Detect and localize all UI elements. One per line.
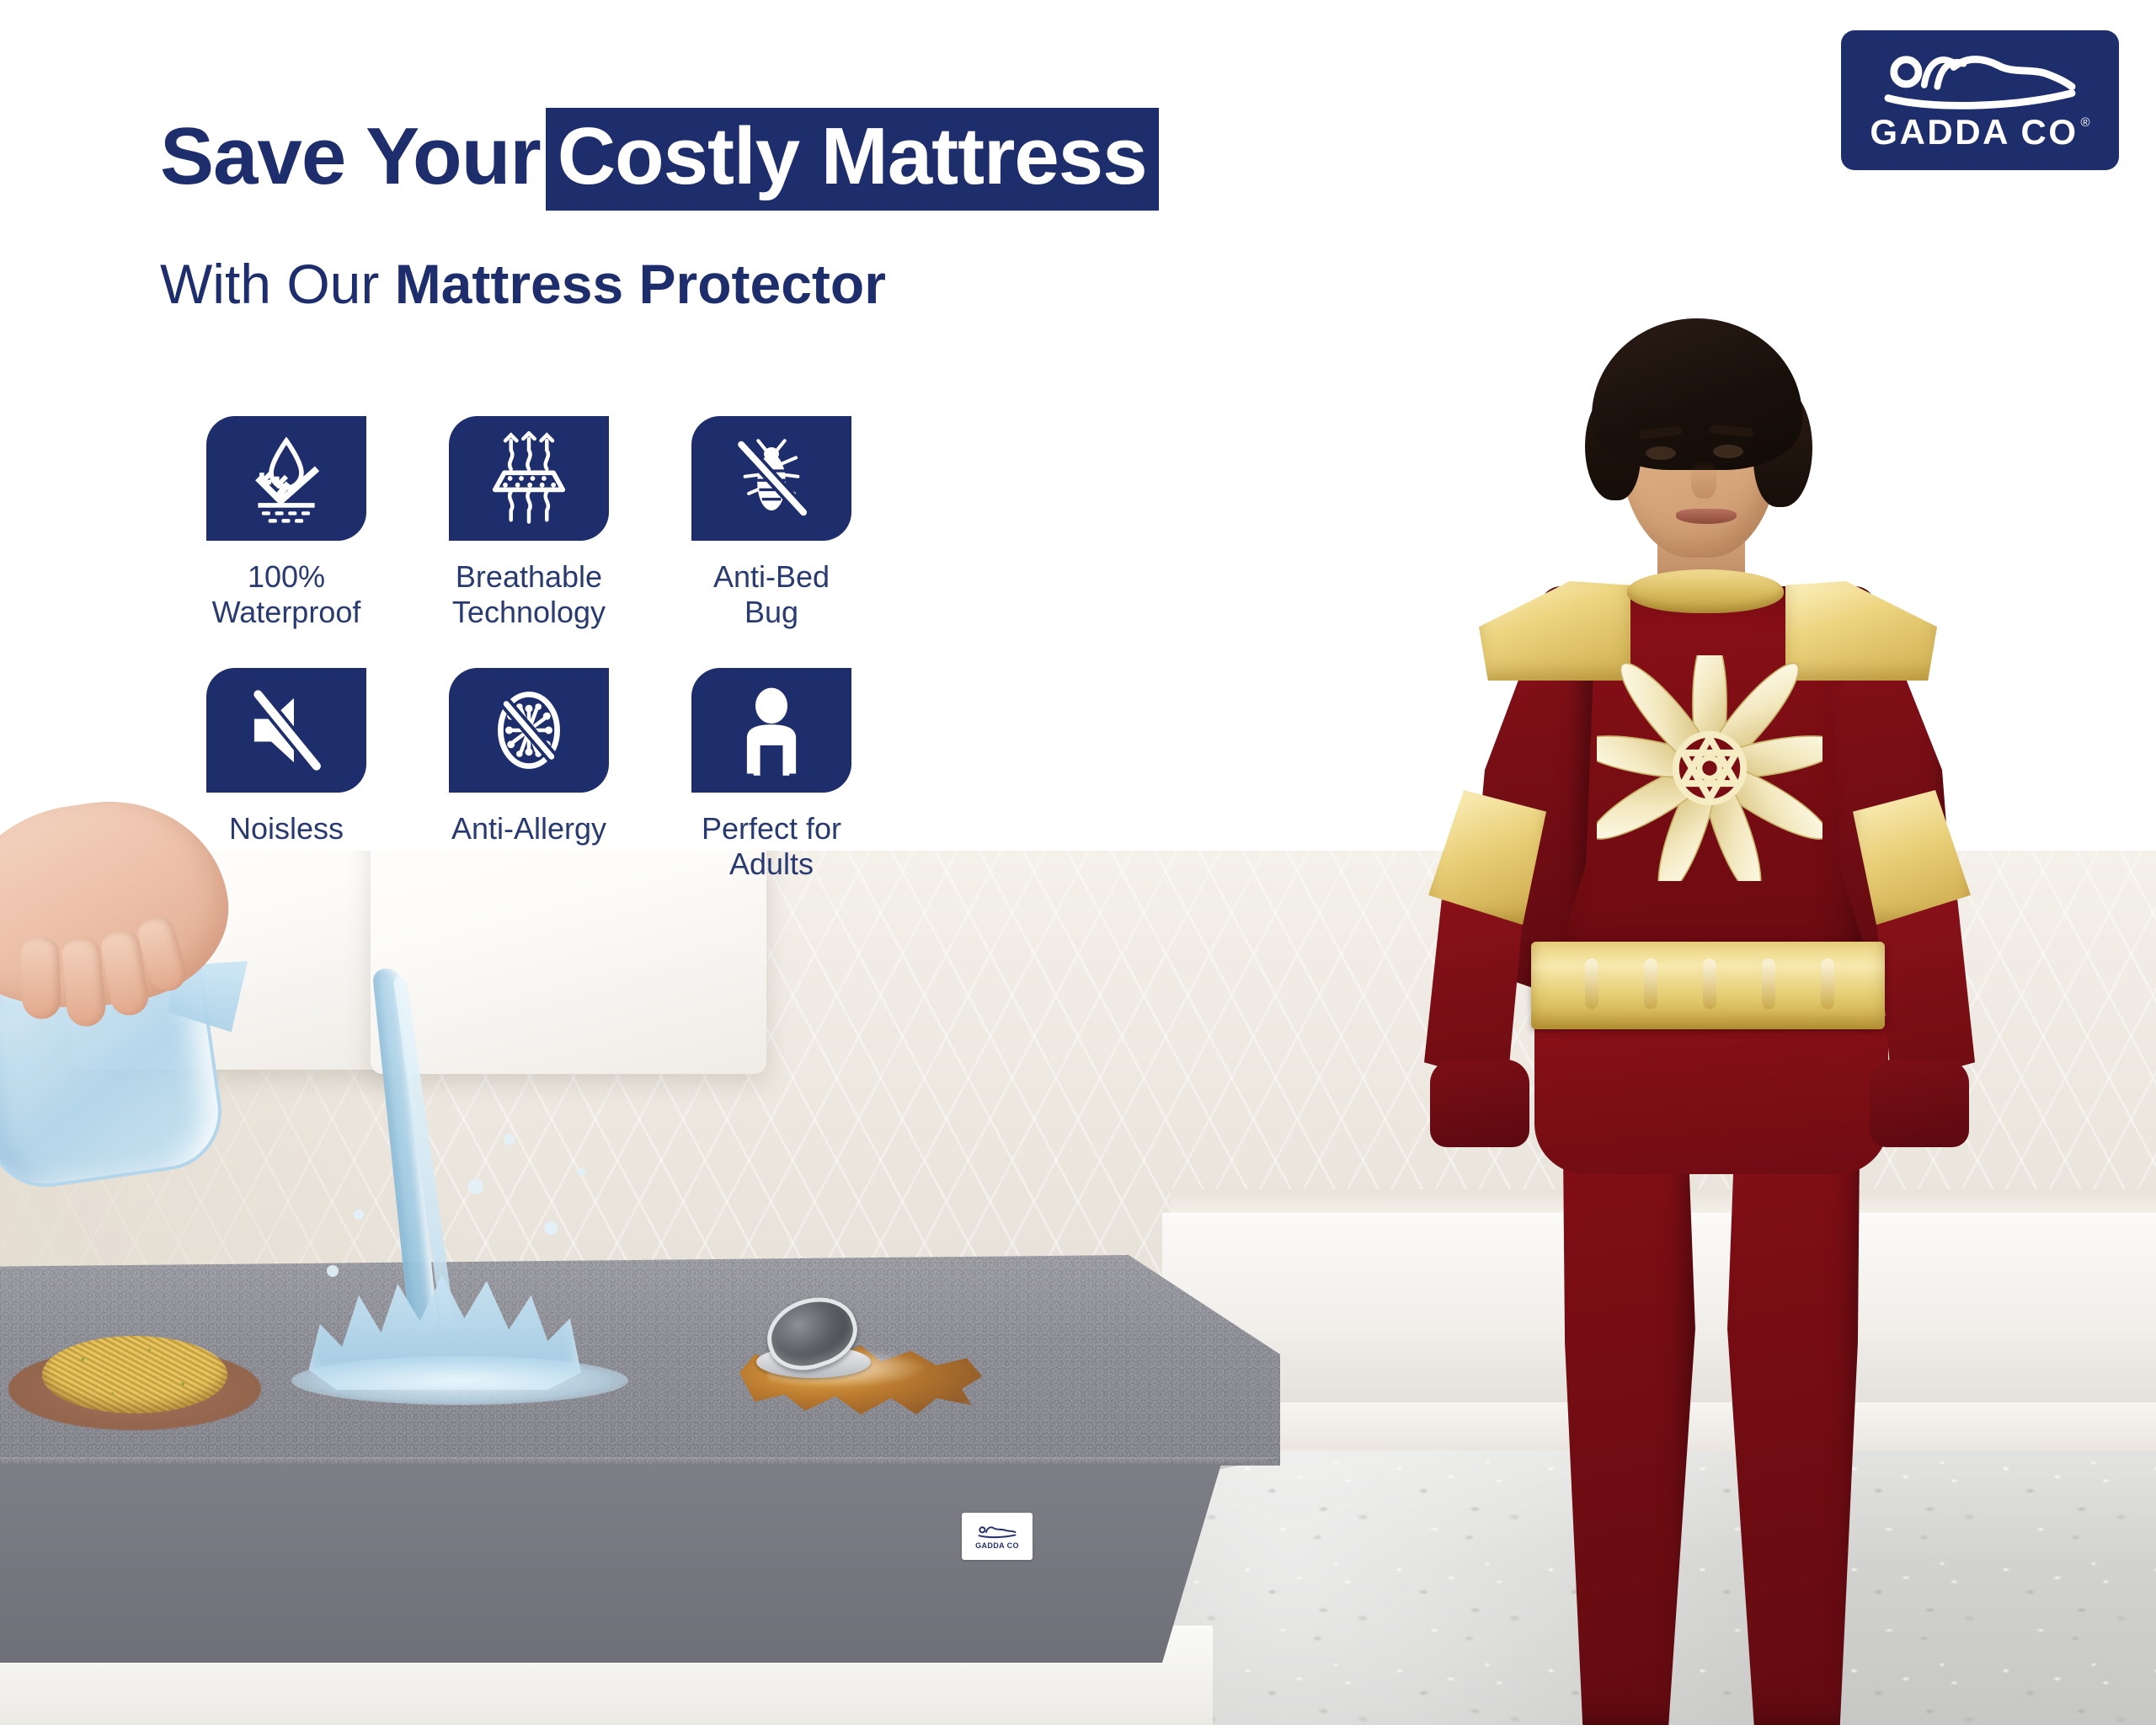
feature-badge — [206, 416, 366, 541]
belt-stud — [1762, 959, 1775, 1009]
vegetable-bits — [42, 1336, 227, 1413]
belt-stud — [1821, 959, 1834, 1009]
golden-lotus-flower-with-star-icon — [1597, 655, 1822, 881]
feature-anti-bed-bug[interactable]: Anti-Bed Bug — [650, 416, 893, 631]
gold-collar — [1627, 569, 1784, 613]
feature-label: Breathable Technology — [452, 559, 606, 631]
water-drop-repel-icon — [237, 431, 336, 526]
person-sleeping-on-mattress-icon — [1881, 51, 2079, 113]
feature-badge — [206, 668, 366, 793]
registered-trademark-icon: ® — [2081, 116, 2090, 129]
eye-right — [1713, 445, 1743, 458]
bed-bug-crossed-out-icon — [722, 431, 821, 526]
water-droplet — [327, 1265, 339, 1277]
water-puddle — [291, 1356, 628, 1405]
subheadline-bold: Mattress Protector — [395, 253, 886, 315]
feature-waterproof[interactable]: 100% Waterproof — [165, 416, 408, 631]
eye-left — [1646, 446, 1676, 460]
feature-label: 100% Waterproof — [212, 559, 361, 631]
feature-anti-allergy[interactable]: Anti-Allergy — [408, 668, 650, 883]
protector-side-panel — [0, 1464, 1221, 1666]
mattress-tag-label: GADDA CO — [975, 1541, 1019, 1550]
feature-row-2: Noisless — [165, 668, 906, 883]
nose — [1691, 460, 1716, 499]
water-droplet — [354, 1210, 364, 1220]
feature-list: 100% Waterproof — [165, 416, 906, 883]
water-droplet — [504, 1134, 515, 1145]
feature-row-1: 100% Waterproof — [165, 416, 906, 631]
advertisement-banner: GADDA CO — [0, 0, 2156, 1725]
feature-label: Perfect for Adults — [702, 811, 841, 883]
feature-badge — [449, 668, 609, 793]
feature-badge — [449, 416, 609, 541]
belt-stud — [1703, 959, 1716, 1009]
feature-noisless[interactable]: Noisless — [165, 668, 408, 883]
water-droplet — [468, 1179, 483, 1194]
water-droplet — [544, 1221, 558, 1235]
breathable-airflow-icon — [479, 431, 579, 526]
finger — [20, 937, 61, 1020]
hair — [1592, 318, 1802, 470]
hips — [1534, 1014, 1888, 1174]
glove-left — [1430, 1060, 1529, 1147]
mouth — [1676, 509, 1737, 524]
glove-right — [1870, 1060, 1969, 1147]
brand-logo[interactable]: GADDA CO ® — [1841, 30, 2119, 170]
allergen-crossed-out-icon — [479, 683, 579, 777]
feature-badge — [691, 416, 851, 541]
page-subtitle: With Our Mattress Protector — [160, 253, 1524, 317]
headline-plain: Save Your — [160, 111, 541, 201]
headline-highlight: Costly Mattress — [546, 108, 1159, 211]
tipped-coffee-cup-stain — [718, 1280, 987, 1432]
feature-badge — [691, 668, 851, 793]
belt-stud — [1644, 959, 1657, 1009]
water-splash — [291, 969, 662, 1440]
noodles-and-sauce-spill — [8, 1336, 261, 1435]
feature-label: Anti-Allergy — [451, 811, 606, 846]
finger — [61, 937, 107, 1028]
person-sleeping-on-mattress-icon — [978, 1524, 1017, 1541]
belt-stud — [1585, 959, 1598, 1009]
feature-label: Anti-Bed Bug — [713, 559, 830, 631]
superhero-mascot — [1314, 318, 2089, 1725]
page-title: Save YourCostly Mattress — [160, 108, 1524, 211]
feature-perfect-for-adults[interactable]: Perfect for Adults — [650, 668, 893, 883]
feature-label: Noisless — [229, 811, 344, 846]
water-droplet — [578, 1167, 586, 1176]
adult-person-icon — [722, 683, 821, 777]
mattress-brand-tag: GADDA CO — [962, 1513, 1033, 1560]
subheadline-light: With Our — [160, 253, 379, 315]
feature-breathable[interactable]: Breathable Technology — [408, 416, 650, 631]
logo-wordmark-row: GADDA CO ® — [1870, 115, 2089, 150]
logo-wordmark: GADDA CO — [1870, 115, 2078, 150]
muted-speaker-icon — [237, 683, 336, 777]
